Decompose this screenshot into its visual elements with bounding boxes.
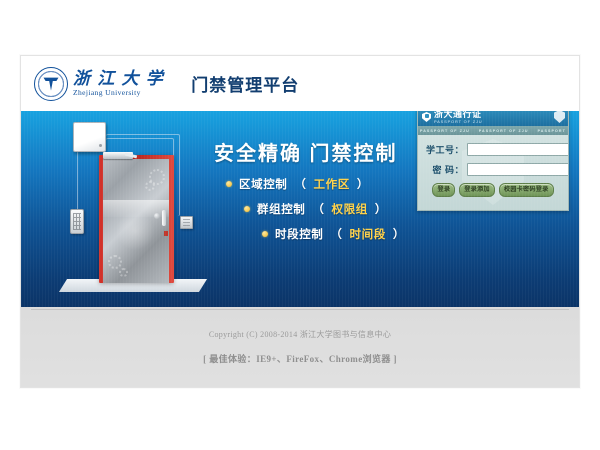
page-title: 门禁管理平台 bbox=[191, 71, 299, 96]
keypad-grid bbox=[73, 213, 81, 230]
strip-text: PASSPORT OF ZJU bbox=[479, 129, 529, 133]
login-title-en: PASSPORT OF ZJU bbox=[434, 120, 482, 124]
logo-text-block: 浙 江 大 学 Zhejiang University bbox=[73, 70, 164, 97]
controller-box-icon bbox=[73, 122, 106, 152]
list-item: 时段控制 （ 时间段 ） bbox=[262, 226, 405, 242]
paren-close: ） bbox=[393, 226, 405, 242]
login-button-row: 登录 登录添加 校园卡密码登录 bbox=[425, 183, 561, 197]
paren-open: （ bbox=[312, 201, 324, 217]
shield-watermark-icon bbox=[554, 111, 565, 123]
door-leaf bbox=[103, 159, 169, 283]
card-reader-icon bbox=[180, 216, 193, 229]
door-handle-icon bbox=[162, 210, 166, 226]
strip-text: PASSPORT OF ZJU bbox=[420, 129, 470, 133]
feature-highlight: 时间段 bbox=[350, 226, 386, 242]
login-panel-titlebar: 浙大通行证 PASSPORT OF ZJU bbox=[418, 111, 568, 126]
bullet-dot-icon bbox=[226, 181, 232, 187]
bullet-dot-icon bbox=[262, 231, 268, 237]
zju-seal-icon bbox=[34, 67, 68, 101]
feature-highlight: 工作区 bbox=[314, 176, 350, 192]
feature-label: 区域控制 bbox=[239, 176, 287, 192]
bullet-dot-icon bbox=[244, 206, 250, 212]
copyright-text: Copyright (C) 2008-2014 浙江大学图书与信息中心 bbox=[209, 329, 391, 340]
login-button[interactable]: 登录 bbox=[432, 183, 455, 197]
gear-icon bbox=[119, 268, 128, 277]
door-lock-icon bbox=[154, 213, 160, 219]
hero-banner: 安全精确 门禁控制 区域控制 （ 工作区 ） 群组控制 （ 权限组 ） bbox=[21, 111, 579, 307]
paren-open: （ bbox=[294, 176, 306, 192]
login-title-text: 浙大通行证 PASSPORT OF ZJU bbox=[434, 111, 482, 124]
door-strike-indicator bbox=[164, 231, 168, 236]
login-title-cn: 浙大通行证 bbox=[434, 111, 482, 119]
door-access-illustration bbox=[51, 116, 216, 302]
campus-card-login-button[interactable]: 校园卡密码登录 bbox=[499, 183, 554, 197]
banner-headline: 安全精确 门禁控制 bbox=[214, 137, 398, 166]
list-item: 群组控制 （ 权限组 ） bbox=[244, 201, 405, 217]
paren-open: （ bbox=[330, 226, 342, 242]
login-add-button[interactable]: 登录添加 bbox=[459, 183, 495, 197]
form-row-userid: 学工号： bbox=[425, 143, 561, 156]
userid-input[interactable] bbox=[467, 143, 569, 156]
gear-icon bbox=[108, 255, 122, 269]
strip-text: PASSPORT OF ZJU bbox=[538, 129, 568, 133]
banner-feature-list: 区域控制 （ 工作区 ） 群组控制 （ 权限组 ） 时段控制 （ 时间段 bbox=[226, 176, 405, 242]
page-card: 浙 江 大 学 Zhejiang University 门禁管理平台 bbox=[20, 55, 580, 388]
login-panel: 浙大通行证 PASSPORT OF ZJU PASSPORT OF ZJU PA… bbox=[417, 111, 569, 211]
university-logo: 浙 江 大 学 Zhejiang University bbox=[34, 67, 164, 101]
feature-label: 群组控制 bbox=[257, 201, 305, 217]
site-header: 浙 江 大 学 Zhejiang University 门禁管理平台 bbox=[21, 56, 579, 111]
login-form: 学工号： 密 码： 登录 登录添加 校园卡密码登录 bbox=[418, 135, 568, 211]
shield-icon bbox=[422, 112, 431, 122]
logo-name-en: Zhejiang University bbox=[73, 89, 164, 97]
site-footer: Copyright (C) 2008-2014 浙江大学图书与信息中心 [ 最佳… bbox=[21, 307, 579, 387]
userid-label: 学工号： bbox=[425, 143, 467, 156]
paren-close: ） bbox=[375, 201, 387, 217]
logo-name-cn: 浙 江 大 学 bbox=[73, 70, 164, 87]
form-row-password: 密 码： bbox=[425, 163, 561, 176]
list-item: 区域控制 （ 工作区 ） bbox=[226, 176, 405, 192]
keypad-reader-icon bbox=[70, 209, 84, 234]
passport-watermark-strip: PASSPORT OF ZJU PASSPORT OF ZJU PASSPORT… bbox=[418, 126, 568, 135]
gear-icon bbox=[145, 181, 155, 191]
password-input[interactable] bbox=[467, 163, 569, 176]
password-label: 密 码： bbox=[425, 163, 467, 176]
feature-highlight: 权限组 bbox=[332, 201, 368, 217]
screenshot-root: 浙 江 大 学 Zhejiang University 门禁管理平台 bbox=[0, 0, 600, 450]
paren-close: ） bbox=[357, 176, 369, 192]
wire-to-keypad bbox=[77, 152, 78, 210]
feature-label: 时段控制 bbox=[275, 226, 323, 242]
browser-support-note: [ 最佳体验：IE9+、FireFox、Chrome浏览器 ] bbox=[203, 352, 397, 365]
